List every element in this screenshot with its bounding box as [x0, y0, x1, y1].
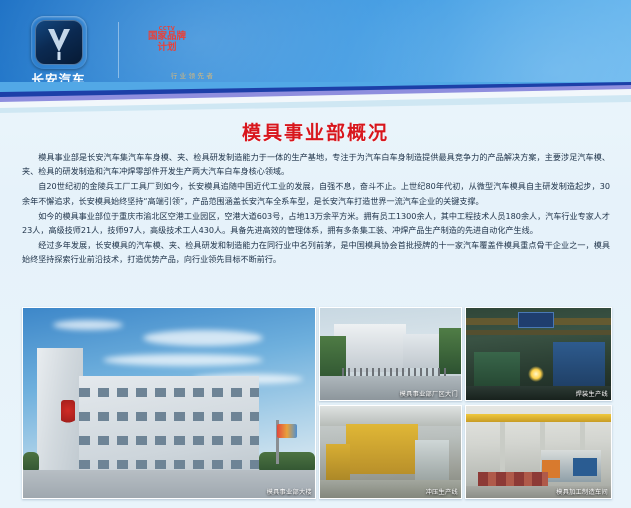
photo-caption: 模具加工制造车间	[556, 487, 608, 496]
page-title: 模具事业部概况	[0, 118, 631, 145]
photo-gallery: 模具事业部大楼 模具事业部厂区大门 焊装生产线	[22, 307, 610, 499]
welding-spark-icon	[528, 366, 544, 382]
building-calligraphy-mark	[61, 400, 75, 426]
photo-factory-gate: 模具事业部厂区大门	[319, 307, 462, 401]
cctv-program-line2: 计划	[144, 43, 190, 54]
photo-welding-workshop: 焊装生产线	[465, 307, 612, 401]
cctv-brand-mark: CCTV 国家品牌 计划 行业领先者	[138, 20, 248, 86]
paragraph: 经过多年发展，长安模具的汽车模、夹、检具研发和制造能力在同行业中名列前茅，是中国…	[22, 238, 610, 266]
photo-press-line: 冲压生产线	[319, 405, 462, 499]
body-text-block: 模具事业部是长安汽车集汽车车身模、夹、检具研发制造能力于一体的生产基地，专注于为…	[22, 150, 610, 268]
paragraph: 模具事业部是长安汽车集汽车车身模、夹、检具研发制造能力于一体的生产基地，专注于为…	[22, 150, 610, 178]
photo-caption: 模具事业部大楼	[267, 487, 312, 496]
photo-caption: 模具事业部厂区大门	[400, 389, 458, 398]
header-swoosh-divider	[0, 82, 631, 116]
photo-caption: 冲压生产线	[426, 487, 458, 496]
changan-v-badge-icon	[31, 16, 87, 69]
cctv-program-tag: CCTV 国家品牌 计划	[144, 26, 190, 53]
photo-machining-hall: 模具加工制造车间	[465, 405, 612, 499]
paragraph: 如今的模具事业部位于重庆市渝北区空港工业园区，空港大道603号，占地13万余平方…	[22, 209, 610, 237]
photo-caption: 焊装生产线	[576, 389, 608, 398]
photo-office-building: 模具事业部大楼	[22, 307, 316, 499]
header-divider	[118, 22, 119, 78]
cctv-tagline: 行业领先者	[138, 70, 248, 80]
paragraph: 自20世纪初的金陵兵工厂工具厂到如今，长安模具追随中国近代工业的发展，自强不息，…	[22, 179, 610, 207]
changan-v-glyph-icon	[31, 16, 87, 69]
slide-page: 长安汽车 CHANGAN CCTV 国家品牌 计划 行业领先者	[0, 0, 631, 508]
changan-logo: 长安汽车 CHANGAN	[17, 16, 100, 88]
cctv-program-line1: 国家品牌	[144, 32, 190, 43]
